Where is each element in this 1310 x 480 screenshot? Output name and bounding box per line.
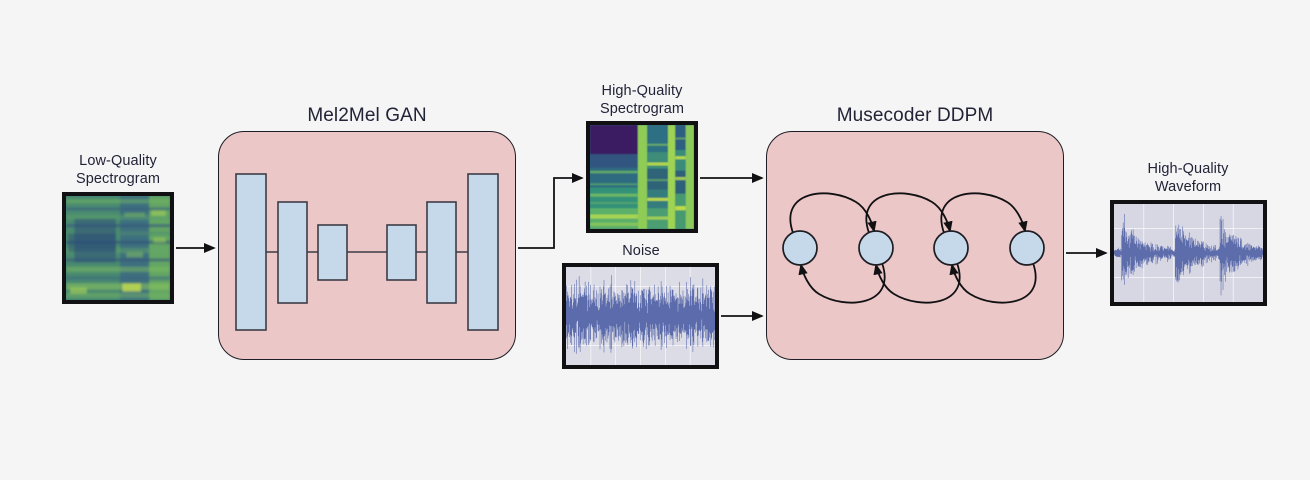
arrow-gan-to-hq-spectrogram: [518, 178, 582, 248]
connectors-layer: [0, 0, 1310, 480]
diagram-canvas: Low-Quality Spectrogram Mel2Mel GAN Conv…: [0, 0, 1310, 480]
